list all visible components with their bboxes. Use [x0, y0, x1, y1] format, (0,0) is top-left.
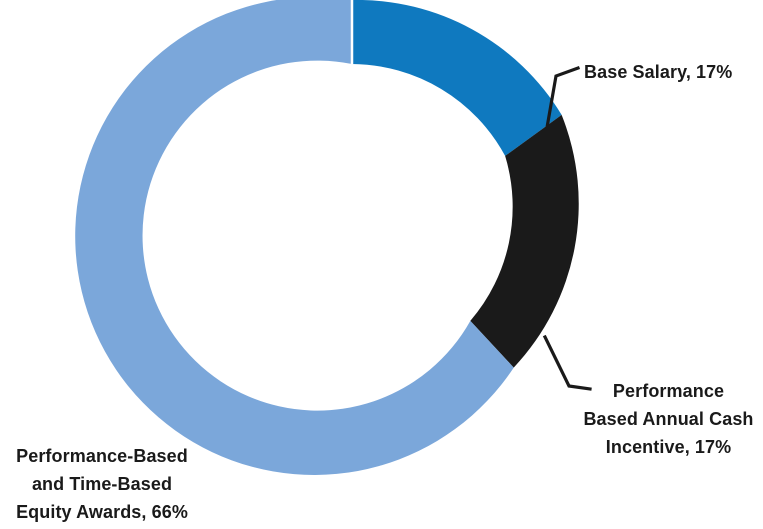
label-base-salary: Base Salary, 17% — [584, 58, 732, 86]
label-annual-cash-incentive: Performance Based Annual Cash Incentive,… — [574, 377, 763, 461]
label-base-salary-line1: Base Salary, 17% — [584, 58, 732, 86]
label-equity-awards: Performance-Based and Time-Based Equity … — [0, 442, 204, 526]
label-annual-cash-line2: Based Annual Cash — [574, 405, 763, 433]
donut-segment-annual-cash-incentive[interactable] — [470, 115, 578, 368]
label-equity-awards-line3: Equity Awards, 66% — [0, 498, 204, 526]
label-equity-awards-line1: Performance-Based — [0, 442, 204, 470]
donut-segment-base-salary[interactable] — [352, 0, 562, 156]
label-annual-cash-line1: Performance — [574, 377, 763, 405]
label-equity-awards-line2: and Time-Based — [0, 470, 204, 498]
donut-chart: Base Salary, 17% Performance Based Annua… — [0, 0, 763, 529]
label-annual-cash-line3: Incentive, 17% — [574, 433, 763, 461]
donut-segments — [75, 0, 579, 475]
